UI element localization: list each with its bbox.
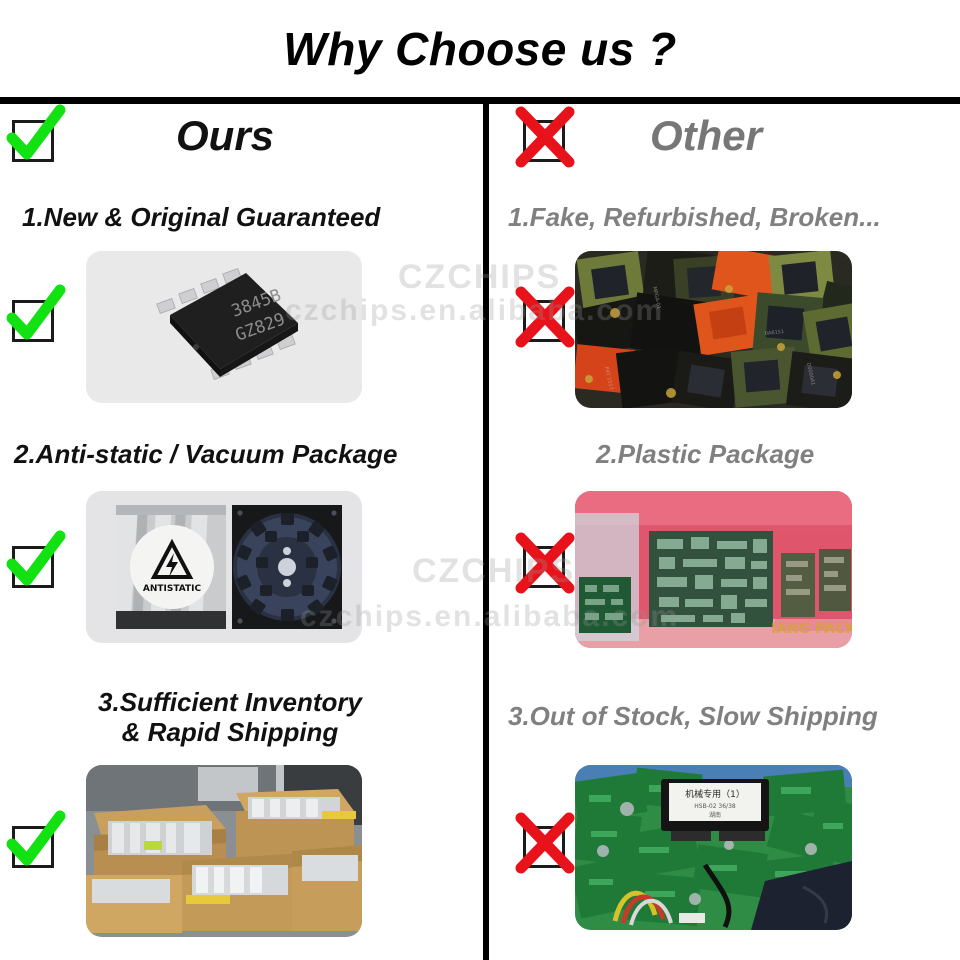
other-item-1-title: 1.Fake, Refurbished, Broken... xyxy=(508,203,881,233)
ours-item-3-photo xyxy=(86,765,362,937)
svg-text:湖南: 湖南 xyxy=(709,811,721,819)
ours-item-3-check-icon xyxy=(6,818,62,874)
other-item-3-title: 3.Out of Stock, Slow Shipping xyxy=(508,702,878,732)
header-check-icon-ours xyxy=(6,112,62,168)
other-item-2-title: 2.Plastic Package xyxy=(596,440,814,470)
ours-item-1-photo: 3845B GZ829 xyxy=(86,251,362,403)
other-item-1-photo: MPGA-01 P4T 1517 D0000A1 0A6151 xyxy=(575,251,852,408)
column-header-ours: Ours xyxy=(176,112,274,160)
ours-item-3-title: 3.Sufficient Inventory & Rapid Shipping xyxy=(60,688,400,748)
other-item-2-cross-icon xyxy=(517,538,573,594)
other-item-1-cross-icon xyxy=(517,292,573,348)
ours-item-3-title-line2: & Rapid Shipping xyxy=(60,718,400,748)
ours-item-2-check-icon xyxy=(6,538,62,594)
column-header-other: Other xyxy=(650,112,762,160)
other-item-3-cross-icon xyxy=(517,818,573,874)
svg-text:机械专用（1）: 机械专用（1） xyxy=(685,788,745,800)
ours-item-1-title: 1.New & Original Guaranteed xyxy=(22,203,380,233)
why-choose-us-infographic: Why Choose us ? Ours Other 1.New & Origi… xyxy=(0,0,960,960)
header-divider xyxy=(0,97,960,104)
other-item-2-photo: IANG PACK xyxy=(575,491,852,648)
page-title: Why Choose us ? xyxy=(0,22,960,76)
other-item-3-photo: 机械专用（1） HSB-02 36/38 湖南 xyxy=(575,765,852,930)
svg-text:HSB-02 36/38: HSB-02 36/38 xyxy=(694,803,736,810)
column-divider xyxy=(483,104,489,960)
ours-item-1-check-icon xyxy=(6,292,62,348)
ours-item-2-photo: ANTISTATIC xyxy=(86,491,362,643)
ours-item-3-title-line1: 3.Sufficient Inventory xyxy=(60,688,400,718)
ours-item-2-title: 2.Anti-static / Vacuum Package xyxy=(14,440,397,470)
header-cross-icon-other xyxy=(517,112,573,168)
bag-brand-text: IANG PACK xyxy=(771,621,852,637)
svg-text:ANTISTATIC: ANTISTATIC xyxy=(143,584,202,594)
